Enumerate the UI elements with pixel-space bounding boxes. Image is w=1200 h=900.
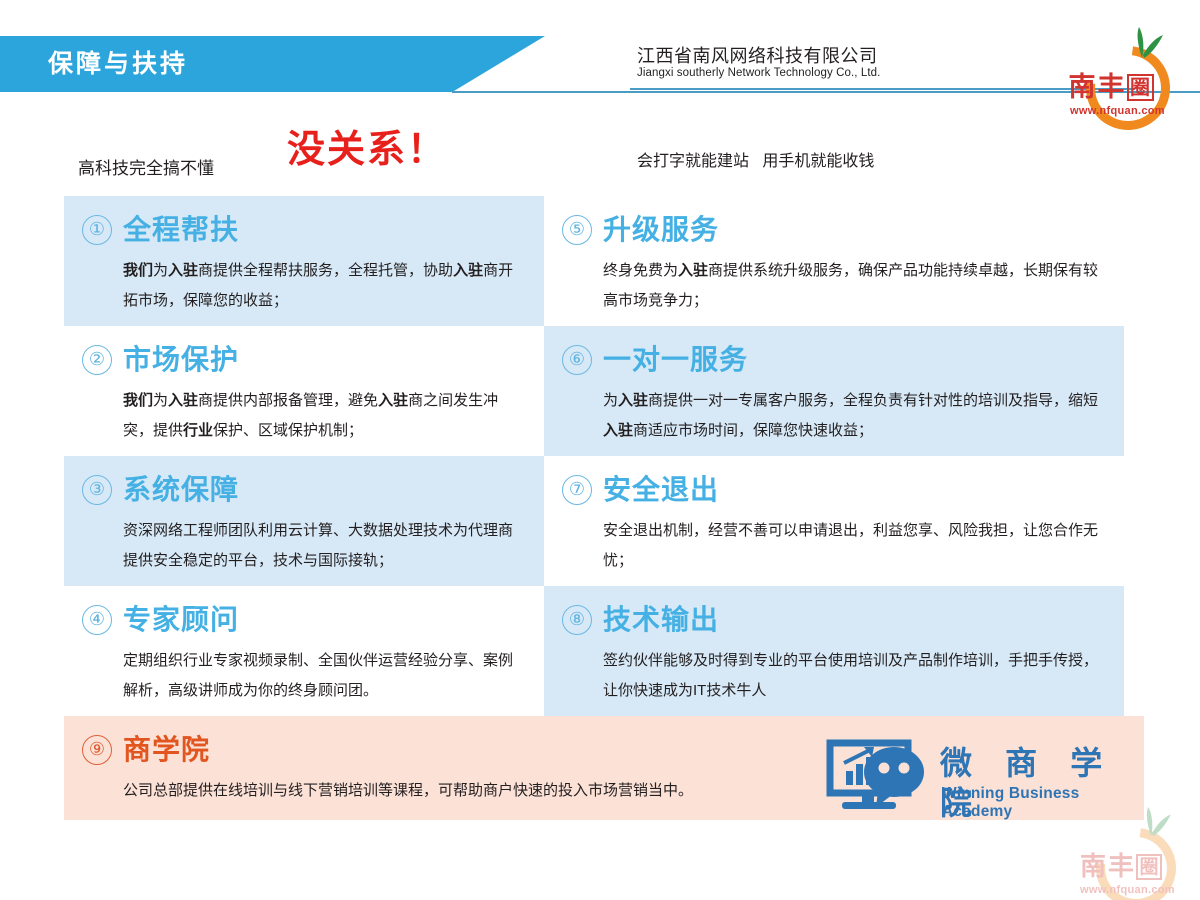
card-body: 我们为入驻商提供内部报备管理，避免入驻商之间发生冲突，提供行业保护、区域保护机制… [123, 386, 526, 446]
nanfengquan-logo: 南 丰 圈 www.nfquan.com [1030, 24, 1196, 130]
card-title: 系统保障 [123, 473, 239, 507]
card-number-badge: ⑤ [562, 215, 592, 245]
card-number-badge: ⑥ [562, 345, 592, 375]
card-header: ① 全程帮扶 [82, 208, 526, 252]
benefit-card-1[interactable]: ① 全程帮扶 我们为入驻商提供全程帮扶服务，全程托管，协助入驻商开拓市场，保障您… [64, 196, 544, 326]
card-number-badge: ⑧ [562, 605, 592, 635]
card-number-badge: ⑦ [562, 475, 592, 505]
logo-char-nan: 南 [1069, 74, 1096, 101]
card-body: 安全退出机制，经营不善可以申请退出，利益您享、风险我担，让您合作无忧； [603, 516, 1106, 576]
logo-char-quan: 圈 [1127, 74, 1154, 101]
benefit-card-6[interactable]: ⑥ 一对一服务 为入驻商提供一对一专属客户服务，全程负责有针对性的培训及指导，缩… [544, 326, 1124, 456]
card-body: 终身免费为入驻商提供系统升级服务，确保产品功能持续卓越，长期保有较高市场竞争力； [603, 256, 1106, 316]
watermark-char-feng: 丰 [1108, 854, 1134, 880]
company-name-cn: 江西省南风网络科技有限公司 [637, 42, 878, 68]
card-body: 资深网络工程师团队利用云计算、大数据处理技术为代理商提供安全稳定的平台，技术与国… [123, 516, 526, 576]
header: 保障与扶持 江西省南风网络科技有限公司 Jiangxi southerly Ne… [0, 0, 1200, 130]
benefit-card-3[interactable]: ③ 系统保障 资深网络工程师团队利用云计算、大数据处理技术为代理商提供安全稳定的… [64, 456, 544, 586]
card-number-badge: ① [82, 215, 112, 245]
card-title: 升级服务 [603, 213, 719, 247]
card-number-badge: ⑨ [82, 735, 112, 765]
card-header: ② 市场保护 [82, 338, 526, 382]
company-name-en: Jiangxi southerly Network Technology Co.… [637, 67, 880, 79]
benefit-card-4[interactable]: ④ 专家顾问 定期组织行业专家视频录制、全国伙伴运营经验分享、案例解析，高级讲师… [64, 586, 544, 716]
card-body: 为入驻商提供一对一专属客户服务，全程负责有针对性的培训及指导，缩短入驻商适应市场… [603, 386, 1106, 446]
intro-right-text: 会打字就能建站 用手机就能收钱 [637, 149, 874, 175]
logo-url: www.nfquan.com [1070, 105, 1165, 117]
benefits-grid: ① 全程帮扶 我们为入驻商提供全程帮扶服务，全程托管，协助入驻商开拓市场，保障您… [64, 196, 1144, 716]
monitor-chat-icon [822, 739, 934, 815]
benefit-card-5[interactable]: ⑤ 升级服务 终身免费为入驻商提供系统升级服务，确保产品功能持续卓越，长期保有较… [544, 196, 1124, 326]
logo-char-feng: 丰 [1098, 74, 1125, 101]
card-body: 签约伙伴能够及时得到专业的平台使用培训及产品制作培训，手把手传授，让你快速成为I… [603, 646, 1106, 706]
card-title: 一对一服务 [603, 343, 748, 377]
card-number-badge: ③ [82, 475, 112, 505]
card-header: ⑦ 安全退出 [562, 468, 1106, 512]
card-title: 专家顾问 [123, 603, 239, 637]
grid-row: ④ 专家顾问 定期组织行业专家视频录制、全国伙伴运营经验分享、案例解析，高级讲师… [64, 586, 1144, 716]
card-title: 技术输出 [603, 603, 719, 637]
benefit-card-7[interactable]: ⑦ 安全退出 安全退出机制，经营不善可以申请退出，利益您享、风险我担，让您合作无… [544, 456, 1124, 586]
watermark-char-quan: 圈 [1136, 854, 1162, 880]
watermark-leaf-icon [1132, 806, 1172, 838]
green-leaf-icon [1122, 26, 1164, 60]
card-title: 商学院 [123, 733, 210, 767]
grid-row: ① 全程帮扶 我们为入驻商提供全程帮扶服务，全程托管，协助入驻商开拓市场，保障您… [64, 196, 1144, 326]
card-body: 定期组织行业专家视频录制、全国伙伴运营经验分享、案例解析，高级讲师成为你的终身顾… [123, 646, 526, 706]
watermark-url: www.nfquan.com [1080, 884, 1175, 896]
card-header: ④ 专家顾问 [82, 598, 526, 642]
card-title: 安全退出 [603, 473, 719, 507]
card-header: ⑧ 技术输出 [562, 598, 1106, 642]
card-header: ⑤ 升级服务 [562, 208, 1106, 252]
academy-name-en: Winning Business Academy [942, 785, 1122, 821]
intro-highlight: 没关系！ [287, 124, 447, 176]
winning-business-academy-logo: 微 商 学 院 Winning Business Academy [822, 739, 1122, 815]
card-title: 市场保护 [123, 343, 239, 377]
card-title: 全程帮扶 [123, 213, 239, 247]
logo-characters: 南 丰 圈 [1068, 72, 1154, 102]
grid-row: ② 市场保护 我们为入驻商提供内部报备管理，避免入驻商之间发生冲突，提供行业保护… [64, 326, 1144, 456]
card-number-badge: ④ [82, 605, 112, 635]
benefit-card-2[interactable]: ② 市场保护 我们为入驻商提供内部报备管理，避免入驻商之间发生冲突，提供行业保护… [64, 326, 544, 456]
intro-line-1: 高科技完全搞不懂 [78, 159, 214, 178]
card-body: 我们为入驻商提供全程帮扶服务，全程托管，协助入驻商开拓市场，保障您的收益； [123, 256, 526, 316]
nanfengquan-watermark: 南 丰 圈 www.nfquan.com [1044, 818, 1200, 900]
card-header: ③ 系统保障 [82, 468, 526, 512]
watermark-characters: 南 丰 圈 [1078, 852, 1164, 882]
page-title: 保障与扶持 [48, 47, 188, 81]
benefit-card-8[interactable]: ⑧ 技术输出 签约伙伴能够及时得到专业的平台使用培训及产品制作培训，手把手传授，… [544, 586, 1124, 716]
watermark-char-nan: 南 [1080, 854, 1106, 880]
card-number-badge: ② [82, 345, 112, 375]
slide-root: 保障与扶持 江西省南风网络科技有限公司 Jiangxi southerly Ne… [0, 0, 1200, 900]
card-header: ⑥ 一对一服务 [562, 338, 1106, 382]
grid-row: ③ 系统保障 资深网络工程师团队利用云计算、大数据处理技术为代理商提供安全稳定的… [64, 456, 1144, 586]
